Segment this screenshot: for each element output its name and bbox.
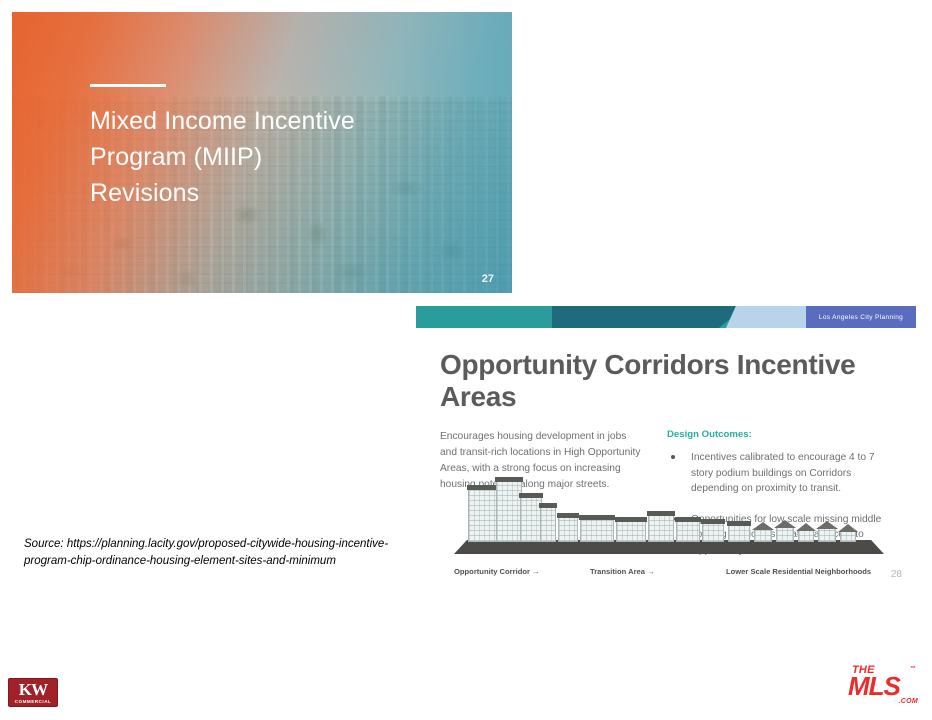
slide1-page-number: 27 bbox=[482, 273, 494, 285]
building-block bbox=[776, 526, 794, 542]
mls-logo-main: MLS bbox=[848, 673, 900, 699]
building-block bbox=[728, 524, 750, 542]
slide-mixed-income-incentive-program[interactable]: Mixed Income Incentive Program (MIIP) Re… bbox=[12, 12, 512, 293]
building-block bbox=[496, 480, 522, 542]
kw-commercial-logo: KW COMMERCIAL bbox=[8, 678, 58, 707]
building-block bbox=[818, 527, 836, 542]
building-block bbox=[616, 520, 646, 542]
caption-lower-scale-residential: Lower Scale Residential Neighborhoods bbox=[726, 567, 894, 576]
building-block bbox=[754, 528, 772, 542]
illustration-ground bbox=[454, 540, 884, 554]
banner-band-light bbox=[726, 306, 808, 328]
banner-band-dark bbox=[552, 306, 746, 328]
slide1-title: Mixed Income Incentive Program (MIIP) Re… bbox=[90, 103, 390, 211]
building-block bbox=[580, 518, 614, 542]
slide2-banner: Los Angeles City Planning bbox=[416, 306, 916, 328]
slide-opportunity-corridors-incentive-areas[interactable]: Los Angeles City Planning Opportunity Co… bbox=[416, 306, 916, 588]
bullet-dot-icon bbox=[671, 455, 675, 459]
slide2-title: Opportunity Corridors Incentive Areas bbox=[440, 349, 916, 413]
the-mls-logo: THE MLS ™ .COM bbox=[846, 662, 918, 708]
building-block bbox=[558, 516, 578, 542]
building-block bbox=[798, 529, 814, 542]
presentation-page: { "slide1": { "page_number": "27", "titl… bbox=[0, 0, 932, 720]
building-block bbox=[702, 522, 724, 542]
kw-logo-letters: KW bbox=[19, 680, 48, 699]
kw-logo-subtitle: COMMERCIAL bbox=[15, 699, 52, 705]
slide2-page-number: 28 bbox=[891, 569, 902, 580]
brand-label: Los Angeles City Planning bbox=[819, 314, 903, 321]
mls-logo-trademark-icon: ™ bbox=[910, 666, 916, 672]
building-block bbox=[540, 506, 556, 542]
banner-band-brand: Los Angeles City Planning bbox=[806, 306, 916, 328]
illustration-captions: Opportunity Corridor → Transition Area →… bbox=[454, 567, 894, 576]
building-block bbox=[648, 514, 674, 542]
building-block bbox=[840, 530, 856, 542]
building-block bbox=[676, 520, 700, 542]
design-outcomes-heading: Design Outcomes: bbox=[667, 429, 897, 440]
slide1-content: Mixed Income Incentive Program (MIIP) Re… bbox=[90, 84, 390, 211]
building-block bbox=[468, 488, 498, 542]
caption-transition-area: Transition Area → bbox=[590, 567, 726, 576]
title-rule bbox=[90, 84, 166, 87]
mls-logo-com: .COM bbox=[899, 698, 918, 705]
source-note: Source: https://planning.lacity.gov/prop… bbox=[24, 536, 394, 570]
corridor-massing-illustration bbox=[454, 476, 884, 554]
caption-opportunity-corridor: Opportunity Corridor → bbox=[454, 567, 590, 576]
